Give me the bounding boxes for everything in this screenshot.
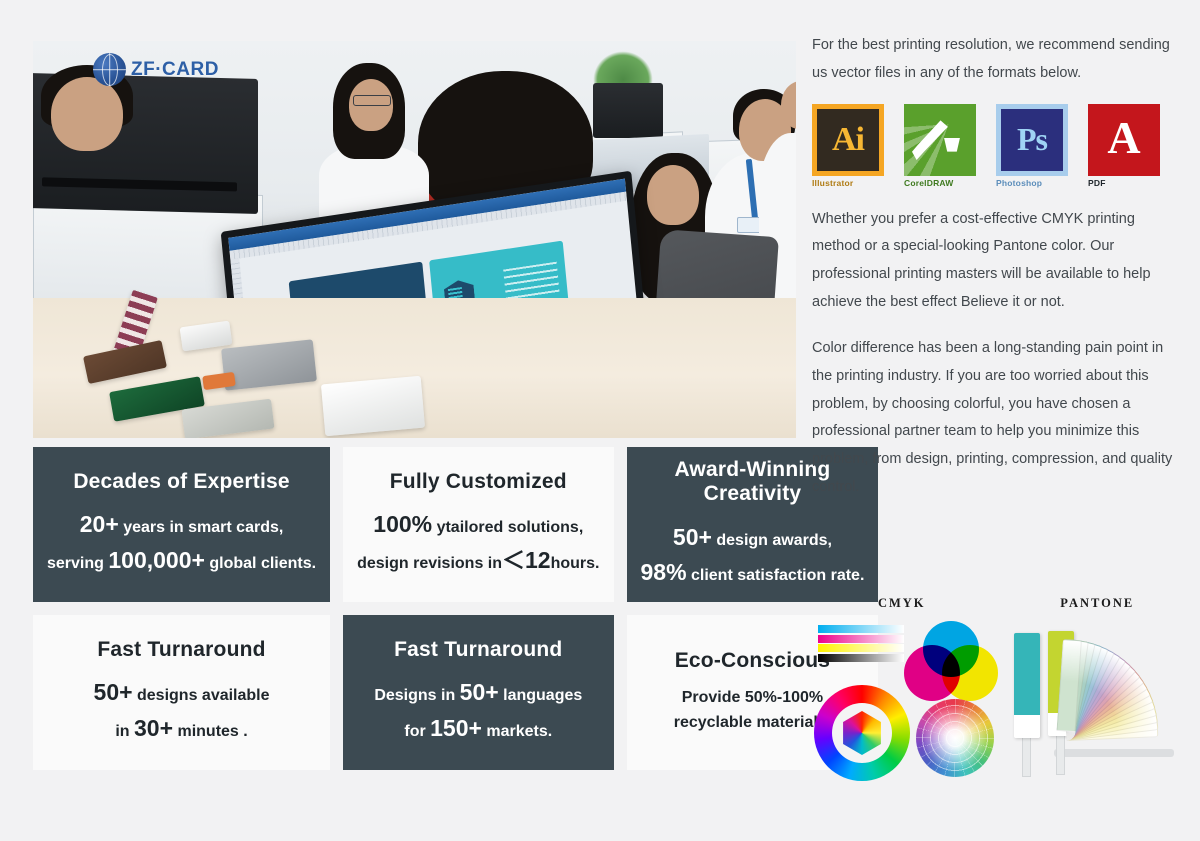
feature-stat-text: recyclable materials. — [674, 714, 831, 731]
feature-stat-text: in — [115, 723, 134, 740]
feature-stat-text: markets. — [482, 723, 552, 740]
pantone-guide-teal — [1014, 633, 1040, 738]
yellow-circle — [942, 645, 998, 701]
feature-stat-text: global clients. — [205, 555, 316, 572]
left-column: ZF·CARD Philips — [33, 41, 796, 770]
cmyk-gradient-bars — [818, 625, 904, 663]
feature-card-line: 20+ years in smart cards, — [47, 507, 316, 543]
right-column: For the best printing resolution, we rec… — [812, 32, 1184, 502]
feature-stat-text: minutes . — [173, 723, 248, 740]
software-formats-row: Ai Illustrator CorelDRAW Ps Photoshop — [812, 104, 1184, 188]
pdf-glyph: A — [1101, 116, 1147, 164]
cmy-venn-icon — [904, 621, 998, 701]
feature-card-title: Decades of Expertise — [73, 470, 289, 494]
format-pdf[interactable]: A PDF — [1088, 104, 1160, 188]
person-face — [51, 77, 123, 151]
feature-stat-value: 20+ — [80, 511, 119, 537]
feature-stat-text: ytailored solutions, — [432, 519, 583, 536]
feature-stat-value: ＜12 — [502, 547, 551, 573]
feature-card-line: serving 100,000+ global clients. — [47, 543, 316, 579]
pantone-title: PANTONE — [1008, 596, 1188, 611]
feature-card-line: Provide 50%-100% — [674, 686, 831, 711]
tint-wheel-icon — [916, 699, 994, 777]
feature-card-body: Provide 50%-100%recyclable materials. — [674, 686, 831, 736]
cmyk-title: CMYK — [812, 596, 992, 611]
format-coreldraw[interactable]: CorelDRAW — [904, 104, 976, 188]
desk-surface — [33, 298, 796, 438]
cmyk-swatch-icon — [812, 621, 992, 781]
eyeglasses-icon — [353, 95, 391, 106]
feature-card: Fast Turnaround50+ designs availablein 3… — [33, 615, 330, 770]
feature-stat-text: languages — [499, 687, 583, 704]
feature-card-body: 50+ design awards,98% client satisfactio… — [641, 520, 865, 591]
product-detail-page: ZF·CARD Philips — [0, 0, 1200, 841]
feature-card-body: 100% ytailored solutions,design revision… — [357, 507, 599, 578]
coreldraw-label: CorelDRAW — [904, 178, 976, 188]
cmyk-group: CMYK — [812, 596, 992, 796]
card-sample-brown — [83, 340, 167, 384]
feature-card-line: 50+ design awards, — [641, 520, 865, 556]
feature-card-line: 100% ytailored solutions, — [357, 507, 599, 543]
globe-icon — [93, 53, 126, 86]
feature-card-line: Designs in 50+ languages — [374, 675, 582, 711]
illustrator-label: Illustrator — [812, 178, 884, 188]
feature-stat-value: 50+ — [673, 524, 712, 550]
feature-stat-text: design revisions in — [357, 555, 502, 572]
cyan-bar — [818, 625, 904, 633]
brand-name: ZF·CARD — [131, 59, 219, 81]
feature-card-body: 20+ years in smart cards,serving 100,000… — [47, 507, 316, 578]
id-badge — [737, 217, 761, 233]
feature-stat-text: for — [404, 723, 430, 740]
feature-stat-value: 100,000+ — [108, 547, 205, 573]
feature-card-line: for 150+ markets. — [374, 711, 582, 747]
background-monitor — [593, 83, 663, 138]
pantone-fandeck-icon — [1008, 621, 1188, 781]
office-plant — [593, 51, 653, 87]
photoshop-glyph: Ps — [1001, 109, 1063, 171]
small-white-box — [180, 321, 233, 352]
feature-card-line: in 30+ minutes . — [94, 711, 270, 747]
feature-stat-value: 30+ — [134, 715, 173, 741]
zf-card-logo: ZF·CARD — [93, 53, 219, 86]
workshop-photo: ZF·CARD Philips — [33, 41, 796, 438]
color-wheel-icon — [814, 685, 910, 781]
feature-card-line: 50+ designs available — [94, 675, 270, 711]
feature-stat-text: designs available — [133, 687, 270, 704]
yellow-bar — [818, 644, 904, 652]
photoshop-icon: Ps — [996, 104, 1068, 176]
color-difference-paragraph: Color difference has been a long-standin… — [812, 335, 1184, 502]
pdf-label: PDF — [1088, 178, 1160, 188]
black-bar — [818, 654, 904, 662]
person-face — [647, 165, 699, 225]
color-systems-section: CMYK PANTONE — [812, 596, 1187, 796]
feature-card-line: recyclable materials. — [674, 711, 831, 736]
guide-handle — [1022, 735, 1031, 777]
feature-card-line: design revisions in＜12hours. — [357, 543, 599, 579]
feature-stat-value: 100% — [373, 511, 432, 537]
coreldraw-icon — [904, 104, 976, 176]
feature-card-body: 50+ designs availablein 30+ minutes . — [94, 675, 270, 746]
feature-card-title: Eco-Conscious — [675, 649, 830, 673]
fan-shadow — [1054, 749, 1174, 757]
display-slot — [42, 177, 237, 191]
feature-card-line: 98% client satisfaction rate. — [641, 555, 865, 591]
feature-stat-text: years in smart cards, — [119, 519, 284, 536]
feature-stat-text: design awards, — [712, 532, 832, 549]
feature-card-title: Fast Turnaround — [394, 638, 562, 662]
photoshop-label: Photoshop — [996, 178, 1068, 188]
feature-stat-text: serving — [47, 555, 108, 572]
feature-card: Decades of Expertise20+ years in smart c… — [33, 447, 330, 602]
feature-card: Fully Customized100% ytailored solutions… — [343, 447, 613, 602]
feature-card-title: Fully Customized — [390, 470, 567, 494]
feature-card: Fast TurnaroundDesigns in 50+ languagesf… — [343, 615, 613, 770]
feature-stat-text: Designs in — [374, 687, 459, 704]
cmyk-pantone-paragraph: Whether you prefer a cost-effective CMYK… — [812, 206, 1184, 317]
format-illustrator[interactable]: Ai Illustrator — [812, 104, 884, 188]
feature-card-title: Fast Turnaround — [97, 638, 265, 662]
feature-card-body: Designs in 50+ languagesfor 150+ markets… — [374, 675, 582, 746]
pdf-icon: A — [1088, 104, 1160, 176]
feature-stat-text: client satisfaction rate. — [687, 567, 865, 584]
feature-stat-value: 50+ — [460, 679, 499, 705]
feature-stat-text: Provide 50%-100% — [682, 689, 823, 706]
feature-stat-text: hours. — [551, 555, 600, 572]
intro-paragraph: For the best printing resolution, we rec… — [812, 32, 1184, 88]
guide-handle — [1056, 733, 1065, 775]
coreldraw-rays — [904, 104, 976, 176]
card-box — [321, 376, 425, 437]
feature-stat-value: 98% — [641, 559, 687, 585]
color-wheel-hex-core — [840, 711, 884, 755]
feature-stat-value: 50+ — [94, 679, 133, 705]
feature-cards-grid: Decades of Expertise20+ years in smart c… — [33, 447, 796, 770]
magenta-bar — [818, 635, 904, 643]
format-photoshop[interactable]: Ps Photoshop — [996, 104, 1068, 188]
feature-stat-value: 150+ — [430, 715, 482, 741]
pantone-group: PANTONE — [1008, 596, 1188, 796]
illustrator-glyph: Ai — [817, 109, 879, 171]
illustrator-icon: Ai — [812, 104, 884, 176]
